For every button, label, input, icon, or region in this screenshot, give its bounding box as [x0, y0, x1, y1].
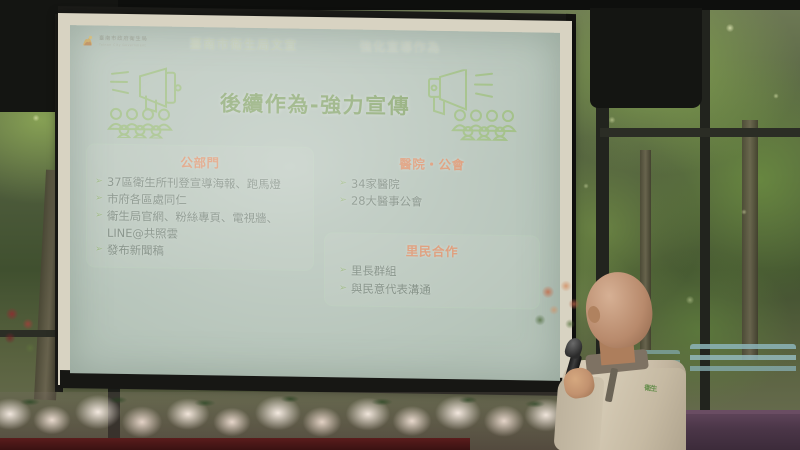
list-item-text: 與民意代表溝通	[351, 280, 531, 299]
list-item-text: 市府各區處同仁	[107, 191, 305, 210]
bullet-list: ➢ 37區衛生所刊登宣導海報、跑馬燈 ➢ 市府各區處同仁 ➢ 衛生局官網、粉絲專…	[95, 174, 305, 261]
window-mullion	[600, 128, 800, 137]
bullet-arrow-icon: ➢	[95, 208, 103, 224]
bullet-list: ➢ 34家醫院 ➢ 28大醫事公會	[333, 175, 531, 211]
list-item: ➢ 市府各區處同仁	[95, 191, 305, 210]
list-item-text: 37區衛生所刊登宣導海報、跑馬燈	[107, 174, 305, 193]
window-valance	[590, 8, 702, 108]
presentation-scene: 臺南市政府衛生局 Tainan City Government 臺南市衛生局文宣…	[0, 0, 800, 450]
card-hospitals-associations: 醫院・公會 ➢ 34家醫院 ➢ 28大醫事公會	[324, 147, 540, 222]
list-item: ➢ 里長群組	[333, 263, 531, 282]
content-column-left: 公部門 ➢ 37區衛生所刊登宣導海報、跑馬燈 ➢ 市府各區處同仁	[86, 143, 314, 361]
slide-title: 後續作為-強力宣傳	[220, 88, 410, 121]
bullet-arrow-icon: ➢	[95, 191, 103, 207]
list-item: ➢ 34家醫院	[333, 175, 531, 194]
organization-logo: 臺南市政府衛生局 Tainan City Government	[80, 33, 148, 49]
bullet-arrow-icon: ➢	[95, 241, 103, 257]
list-item: ➢ 與民意代表溝通	[333, 280, 531, 299]
slide-title-row: 後續作為-強力宣傳	[70, 63, 560, 145]
list-item-text: 里長群組	[351, 263, 531, 282]
card-title: 醫院・公會	[333, 152, 531, 174]
bullet-arrow-icon: ➢	[339, 175, 347, 191]
bullet-arrow-icon: ➢	[95, 174, 103, 190]
megaphone-icon	[416, 69, 524, 145]
bullet-arrow-icon: ➢	[339, 280, 347, 296]
list-item: ➢ 發布新聞稿	[95, 241, 305, 260]
megaphone-icon	[106, 64, 214, 140]
bullet-arrow-icon: ➢	[339, 263, 347, 279]
card-resident-cooperation: 里民合作 ➢ 里長群組 ➢ 與民意代表溝通	[324, 233, 540, 310]
presenter: 衛生	[548, 272, 688, 450]
logo-emblem-icon	[80, 33, 95, 48]
floral-foliage	[0, 392, 570, 432]
list-item: ➢ 衛生局官網、粉絲專頁、電視牆、LINE@共照雲	[95, 208, 305, 244]
content-column-right: 醫院・公會 ➢ 34家醫院 ➢ 28大醫事公會	[324, 147, 540, 364]
banner-text-right: 強化宣導作為	[360, 36, 441, 56]
card-public-sector: 公部門 ➢ 37區衛生所刊登宣導海報、跑馬燈 ➢ 市府各區處同仁	[86, 143, 314, 271]
table-runner	[0, 438, 470, 450]
floral-spray	[0, 300, 44, 362]
bullet-arrow-icon: ➢	[339, 193, 347, 209]
garden-bench	[690, 344, 796, 388]
bullet-list: ➢ 里長群組 ➢ 與民意代表溝通	[333, 263, 531, 299]
card-title: 公部門	[95, 151, 305, 173]
list-item-text: 34家醫院	[351, 176, 531, 195]
slide-content: 公部門 ➢ 37區衛生所刊登宣導海報、跑馬燈 ➢ 市府各區處同仁	[86, 143, 544, 364]
projection-screen: 臺南市政府衛生局 Tainan City Government 臺南市衛生局文宣…	[70, 25, 560, 381]
list-item: ➢ 28大醫事公會	[333, 192, 531, 211]
list-item-text: 發布新聞稿	[107, 241, 305, 260]
vest-logo-text: 衛生	[643, 383, 667, 401]
list-item: ➢ 37區衛生所刊登宣導海報、跑馬燈	[95, 174, 305, 193]
list-item-text: 28大醫事公會	[351, 193, 531, 212]
logo-text-english: Tainan City Government	[99, 43, 148, 48]
banner-text-left: 臺南市衛生局文宣	[189, 33, 297, 54]
list-item-text: 衛生局官網、粉絲專頁、電視牆、LINE@共照雲	[107, 208, 305, 243]
card-title: 里民合作	[333, 240, 531, 262]
